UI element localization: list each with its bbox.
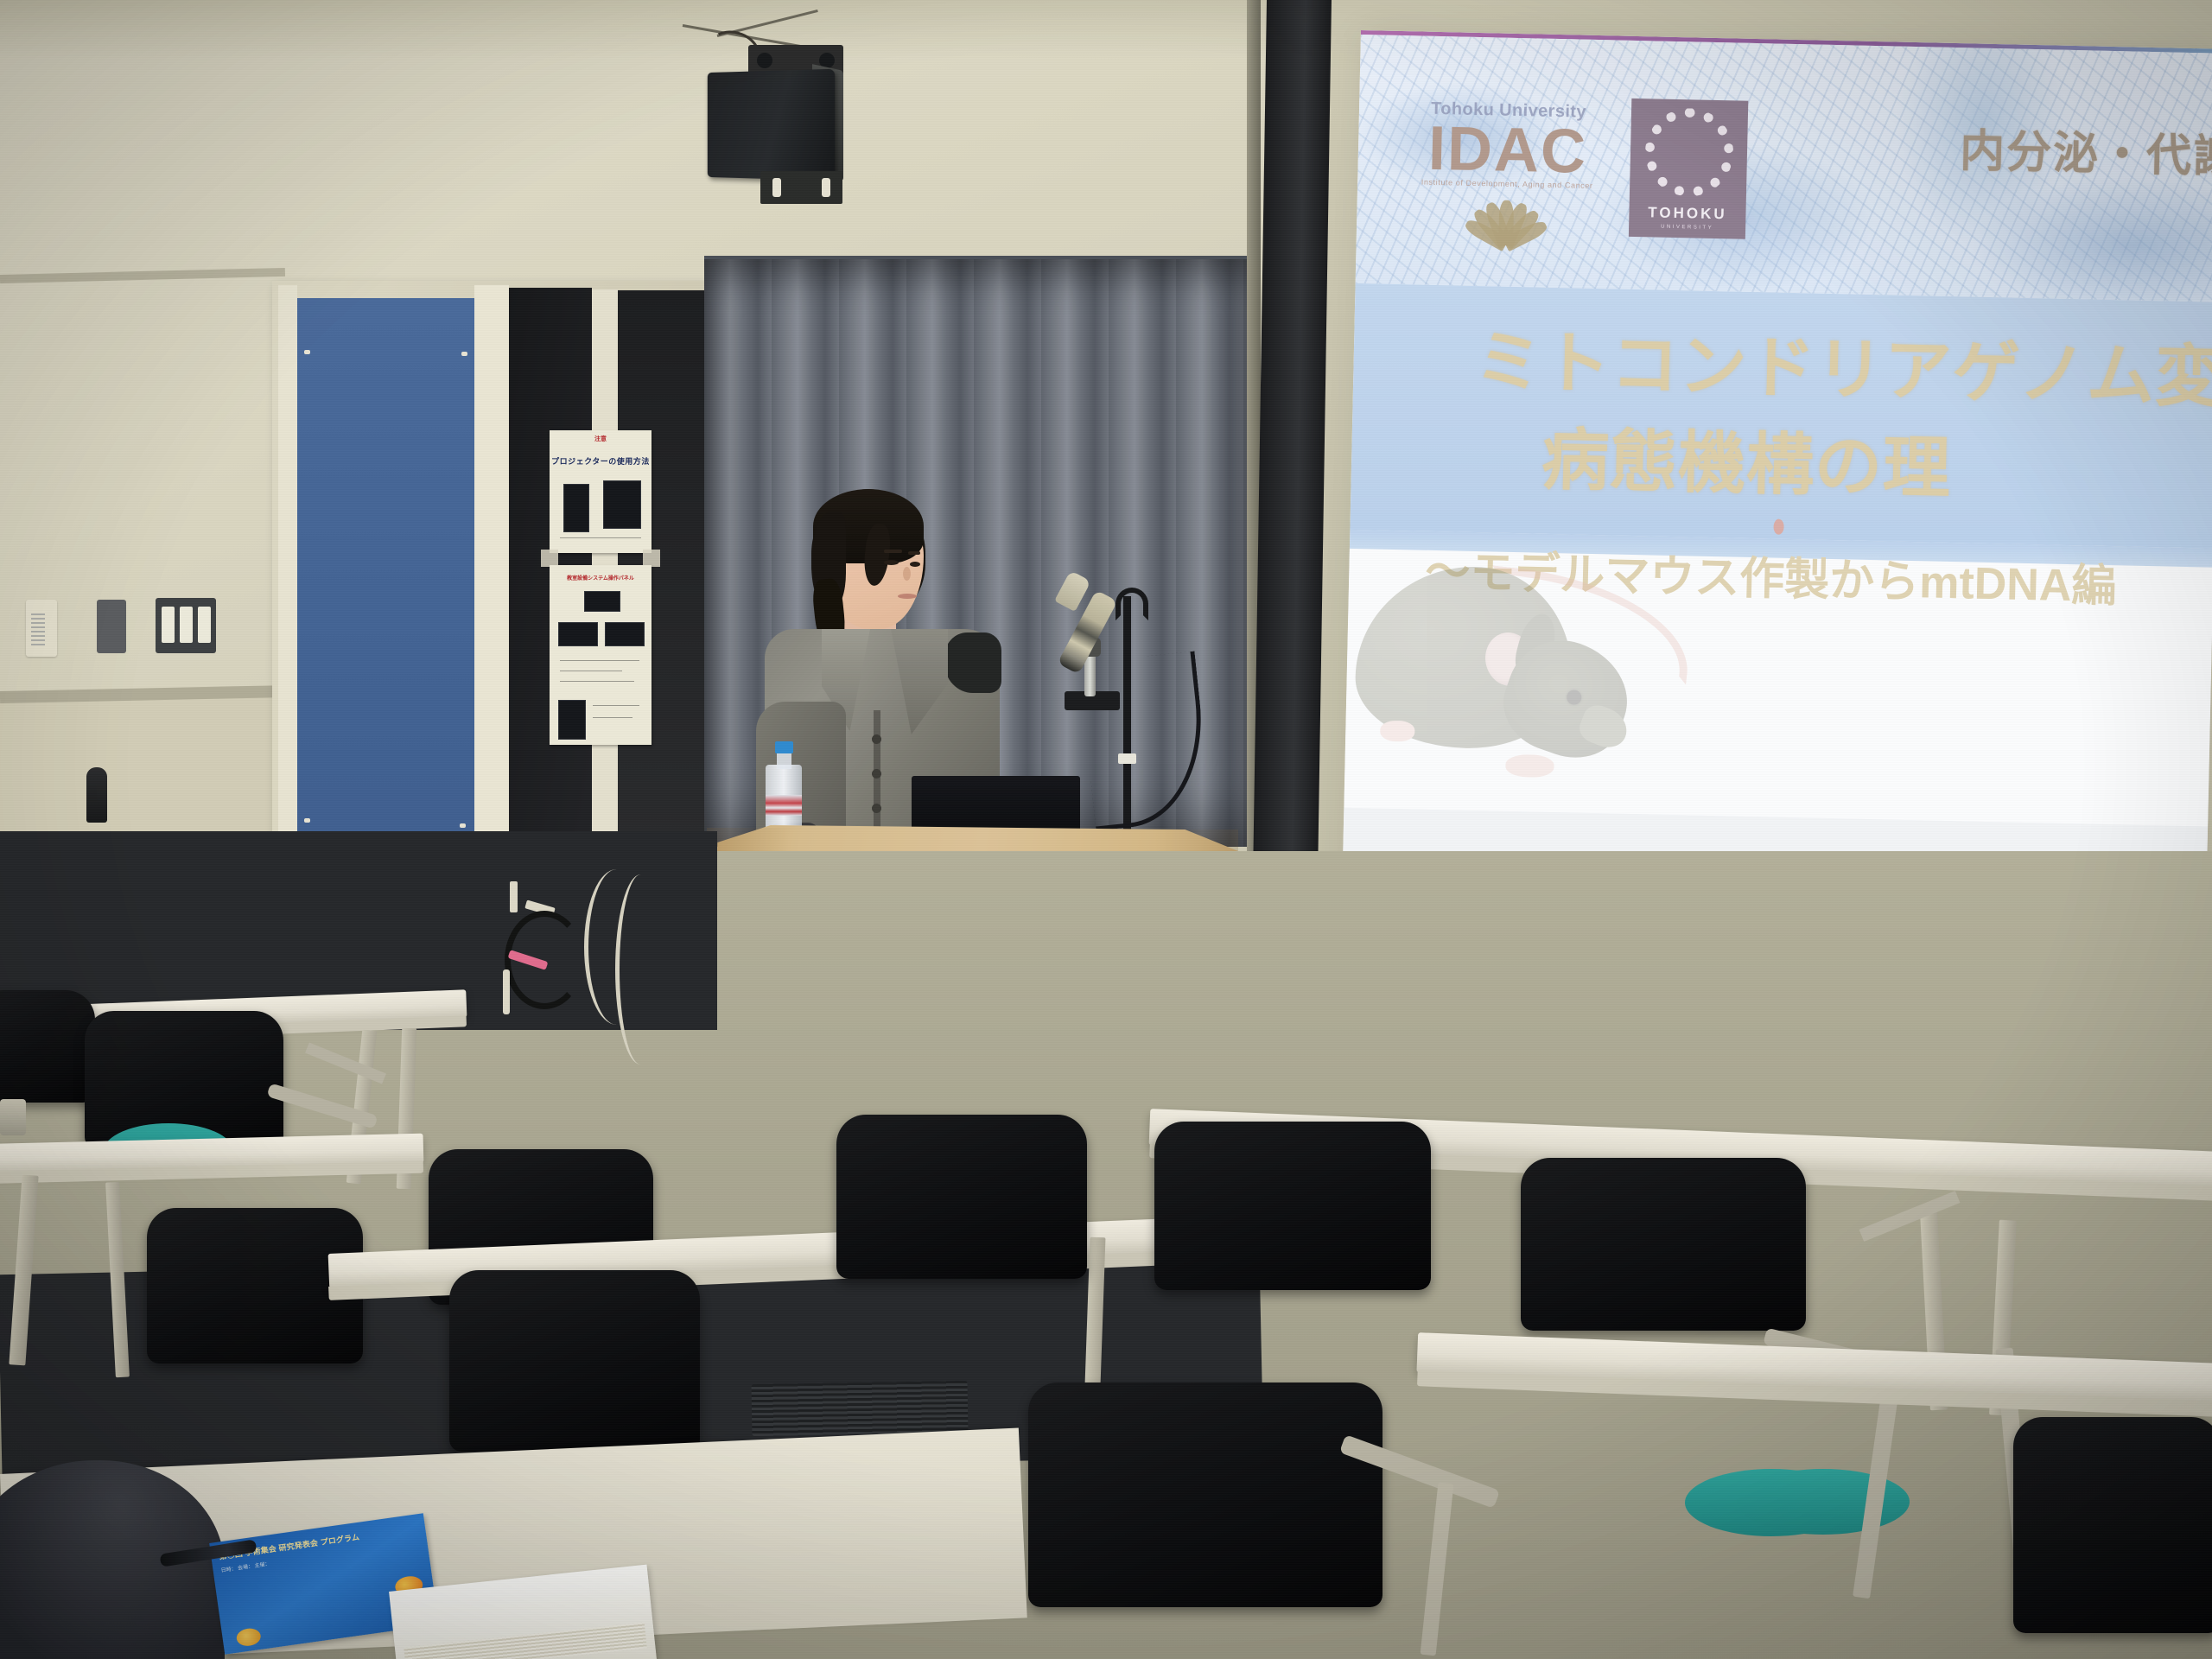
poster-rule (560, 681, 634, 682)
cabinet-frame-left (278, 285, 297, 877)
mouse-paw (1380, 721, 1415, 742)
poster-tape (643, 550, 660, 567)
board-pin (461, 352, 467, 356)
chair-backrest (1154, 1122, 1431, 1290)
panel-engraving (31, 613, 45, 646)
bottle-cap (775, 741, 793, 753)
desk-microphone-stub (86, 767, 107, 823)
white-cable (503, 969, 510, 1014)
poster-tape (541, 550, 558, 567)
slide-title-line1: ミトコンドリアゲノム変 (1474, 308, 2212, 421)
presenter-button (872, 804, 881, 813)
chair-backrest (449, 1270, 700, 1452)
chair-backrest (2013, 1417, 2212, 1633)
slide-kicker-text: 内分泌・代謝 (1959, 114, 2212, 185)
presenter-eye (910, 562, 920, 567)
cable-hook (510, 881, 518, 912)
poster-thumb (558, 622, 598, 646)
poster-thumb (603, 480, 641, 529)
light-switch-2[interactable] (180, 607, 193, 643)
light-switch-plate[interactable] (156, 598, 216, 653)
board-pin (460, 823, 466, 828)
presenter-eyebrow (908, 551, 920, 555)
chair-row3-b[interactable] (1028, 1382, 1382, 1607)
idac-acronym: IDAC (1408, 118, 1607, 181)
tohoku-logo-sub: UNIVERSITY (1661, 224, 1713, 230)
slide-title-line2: 病態機構の理 (1541, 406, 1952, 512)
cabinet-frame-middle (474, 285, 509, 881)
presenter-eyebrow (884, 550, 902, 553)
idac-logo: Tohoku University IDAC Institute of Deve… (1407, 99, 1609, 247)
poster-projector-instructions: 注意 プロジェクターの使用方法 (550, 430, 652, 553)
poster-badge: 注意 (550, 435, 652, 443)
light-switch-1[interactable] (162, 607, 175, 643)
poster-rule (560, 660, 639, 661)
hanging-cable-2 (615, 874, 666, 1065)
tohoku-logo-name: TOHOKU (1648, 204, 1727, 223)
mic-stand-clip (1116, 588, 1148, 620)
wall-top-shading (0, 0, 1270, 60)
presenter-laptop[interactable] (912, 776, 1080, 829)
chair-backrest (1028, 1382, 1382, 1607)
chair-backrest (0, 990, 95, 1103)
chair-right-b[interactable] (1154, 1122, 1431, 1290)
speaker-bracket-bottom (760, 171, 842, 204)
light-switch-3[interactable] (198, 607, 211, 643)
chair-right-a[interactable] (836, 1115, 1087, 1279)
mouse-paw (1505, 754, 1554, 778)
poster-rule (560, 537, 641, 538)
presenter-mouth (898, 594, 917, 599)
presenter-eye (884, 560, 899, 565)
chair-right-c[interactable] (1521, 1158, 1806, 1331)
desk-object (0, 1099, 26, 1135)
poster-av-panel-guide: 教室設備システム操作パネル (550, 565, 652, 745)
chair-row1-a[interactable] (0, 990, 95, 1103)
tohoku-university-logo: TOHOKU UNIVERSITY (1629, 99, 1748, 239)
presenter-button (872, 769, 881, 779)
blue-notice-board (297, 298, 474, 864)
wall-panel-blank (97, 600, 126, 653)
wall-panel-label (26, 600, 57, 657)
poster-thumb (584, 591, 620, 612)
board-pin (304, 350, 310, 354)
presenter-shoulder-shadow (944, 632, 1001, 693)
poster-title: 教室設備システム操作パネル (550, 574, 652, 582)
presenter-nose (903, 567, 911, 581)
leaflet-seal-icon-2 (235, 1627, 262, 1648)
board-pin (304, 818, 310, 823)
slide-mouse-photo (1352, 547, 1686, 813)
tohoku-crest-icon (1643, 107, 1733, 197)
poster-thumb (563, 484, 589, 532)
presenter-button (872, 734, 881, 744)
poster-thumb (605, 622, 645, 646)
idac-fan-mark (1407, 192, 1606, 248)
bottle-label (766, 795, 802, 816)
poster-title: プロジェクターの使用方法 (550, 455, 652, 467)
poster-thumb (558, 700, 586, 740)
chair-front-right[interactable] (2013, 1417, 2212, 1633)
poster-rule (593, 717, 632, 718)
chair-backrest (1521, 1158, 1806, 1331)
poster-rule (560, 671, 622, 671)
chair-backrest (836, 1115, 1087, 1279)
chair-row3-a[interactable] (449, 1270, 700, 1452)
lecture-hall-scene: 注意 プロジェクターの使用方法 教室設備システム操作パネル (0, 0, 2212, 1659)
floor-vent (751, 1381, 968, 1436)
wall-speaker (708, 69, 835, 181)
poster-rule (593, 705, 639, 706)
